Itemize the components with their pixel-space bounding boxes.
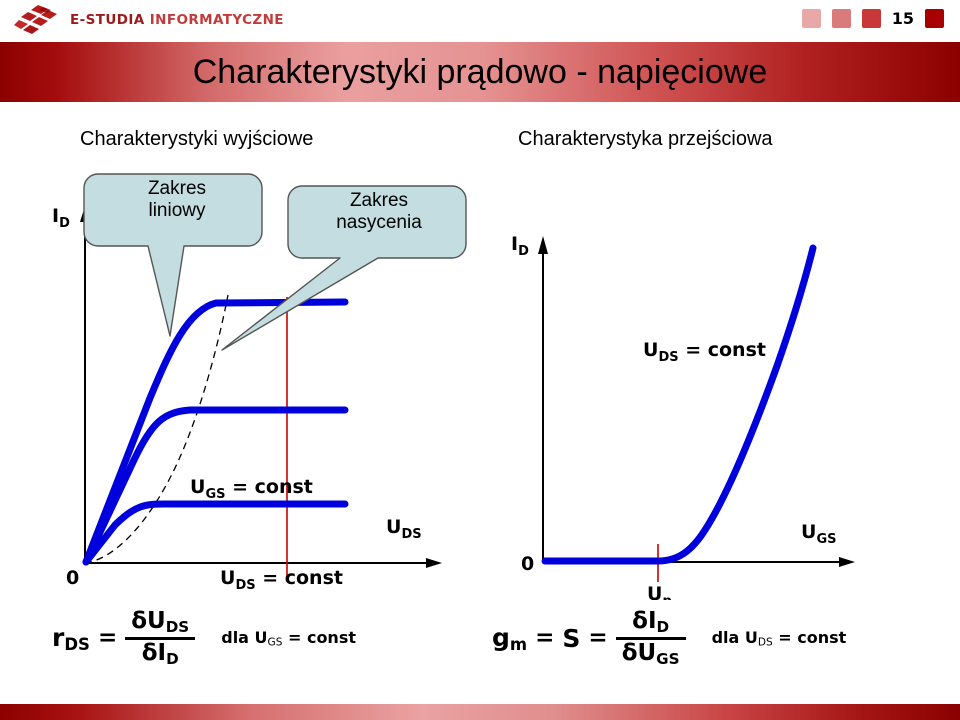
progress-square-2 [832, 9, 851, 28]
logo-text-main: E-STUDIA [70, 12, 145, 28]
page-title: Charakterystyki prądowo - napięciowe [0, 44, 960, 100]
callout-linear-region [84, 174, 262, 336]
formula-rds-condition: dla UGS = const [221, 628, 356, 649]
transfer-curve [545, 248, 813, 561]
formula-rds-denominator: δID [136, 640, 185, 669]
right-origin-label: 0 [521, 553, 534, 575]
progress-indicator: 15 [802, 9, 944, 28]
right-section-subtitle: Charakterystyka przejściowa [518, 128, 773, 151]
right-yaxis-label: ID [511, 233, 529, 259]
output-characteristics-chart: ID 0 UDS UGS = const UDS = const [30, 160, 480, 590]
formula-rds-fraction: δUDS δID [125, 608, 195, 668]
header-bar: E-STUDIA INFORMATYCZNE 15 [0, 0, 960, 40]
stacked-diamonds-icon [14, 4, 60, 36]
formula-rds-numerator: δUDS [125, 608, 195, 637]
formula-gm-equals-2: = [588, 625, 607, 651]
left-origin-label: 0 [66, 567, 79, 589]
formula-rds: rDS = δUDS δID dla UGS = const [52, 608, 356, 668]
logo-text-sub: INFORMATYCZNE [150, 12, 284, 28]
output-curve-high [86, 302, 345, 562]
progress-square-4 [925, 9, 944, 28]
left-xaxis-label: UDS [386, 516, 422, 542]
progress-square-3 [862, 9, 881, 28]
footer-bar [0, 704, 960, 720]
formula-rds-lhs: rDS [52, 623, 90, 654]
uds-const-annotation: UDS = const [220, 567, 343, 590]
formula-gm-lhs2: S [562, 624, 580, 653]
output-curve-low [86, 504, 345, 562]
ugs-const-annotation: UGS = const [190, 476, 313, 502]
formula-gm-denominator: δUGS [616, 640, 686, 669]
formula-gm-lhs: gm [492, 623, 527, 654]
left-yaxis-label: ID [52, 205, 70, 231]
up-threshold-label: Up [647, 583, 672, 600]
right-xaxis-label: UGS [801, 521, 836, 547]
logo-text: E-STUDIA INFORMATYCZNE [70, 12, 284, 28]
formula-gm-fraction: δID δUGS [616, 608, 686, 668]
left-section-subtitle: Charakterystyki wyjściowe [80, 128, 313, 151]
right-chart-axes [538, 236, 855, 567]
formula-gm-numerator: δID [626, 608, 675, 637]
uds-const-annotation-right: UDS = const [643, 339, 766, 365]
page-number: 15 [892, 9, 914, 28]
formula-gm-condition: dla UDS = const [712, 628, 847, 649]
transfer-characteristic-chart: ID 0 Up UGS UDS = const [495, 200, 925, 600]
formula-gm: gm = S = δID δUGS dla UDS = const [492, 608, 846, 668]
progress-square-1 [802, 9, 821, 28]
formula-gm-equals-1: = [535, 625, 554, 651]
logo-block: E-STUDIA INFORMATYCZNE [14, 4, 284, 36]
formula-rds-equals: = [98, 625, 117, 651]
